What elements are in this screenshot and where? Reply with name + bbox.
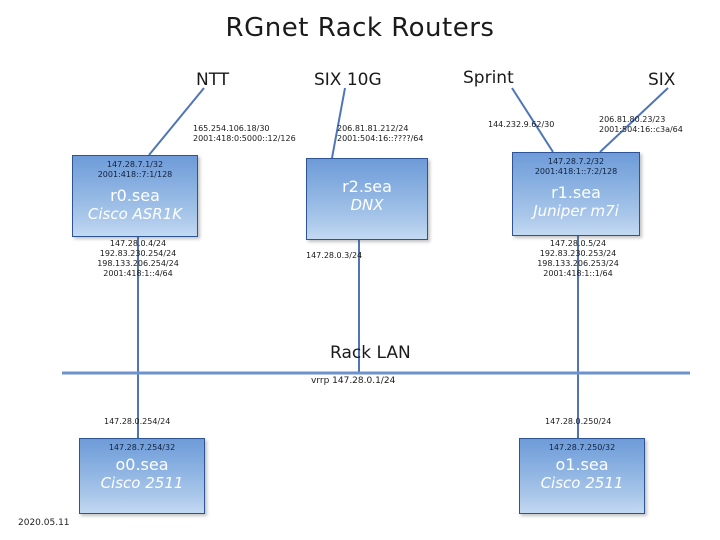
console-server-node-o0[interactable]: 147.28.7.254/32 o0.sea Cisco 2511 <box>79 438 205 514</box>
lan-address: 147.28.0.3/24 <box>306 251 362 261</box>
console-server-model-o1: Cisco 2511 <box>520 474 644 492</box>
router-loopback-v6-r1: 2001:418:1::7:2/128 <box>513 167 639 177</box>
router-model-r1: Juniper m7i <box>513 202 639 220</box>
router-lan-addresses-r1: 147.28.0.5/24 192.83.230.253/24 198.133.… <box>518 239 638 279</box>
router-node-r0[interactable]: 147.28.7.1/32 2001:418::7:1/128 r0.sea C… <box>72 155 198 237</box>
uplink-address: 2001:504:16::c3a/64 <box>599 125 683 135</box>
console-lan-address-o0: 147.28.0.254/24 <box>104 417 170 427</box>
lan-address: 2001:418:1::1/64 <box>518 269 638 279</box>
uplink-address: 2001:418:0:5000::12/126 <box>193 134 296 144</box>
uplink-label-six10g: SIX 10G <box>314 70 382 90</box>
uplink-label-six: SIX <box>648 70 675 90</box>
uplink-address: 206.81.80.23/23 <box>599 115 683 125</box>
wire-ntt-to-r0 <box>149 88 204 155</box>
router-lan-addresses-r2: 147.28.0.3/24 <box>306 251 362 261</box>
router-loopback-v4-r0: 147.28.7.1/32 <box>73 156 197 170</box>
router-lan-addresses-r0: 147.28.0.4/24 192.83.230.254/24 198.133.… <box>78 239 198 279</box>
uplink-address: 206.81.81.212/24 <box>337 124 423 134</box>
lan-address: 192.83.230.253/24 <box>518 249 638 259</box>
router-model-r0: Cisco ASR1K <box>73 205 197 223</box>
uplink-addresses-sprint: 144.232.9.62/30 <box>488 120 554 130</box>
lan-address: 147.28.0.5/24 <box>518 239 638 249</box>
router-node-r1[interactable]: 147.28.7.2/32 2001:418:1::7:2/128 r1.sea… <box>512 152 640 236</box>
lan-address: 192.83.230.254/24 <box>78 249 198 259</box>
uplink-addresses-six: 206.81.80.23/23 2001:504:16::c3a/64 <box>599 115 683 135</box>
uplink-address: 144.232.9.62/30 <box>488 120 554 130</box>
router-name-r0: r0.sea <box>73 186 197 205</box>
console-server-model-o0: Cisco 2511 <box>80 474 204 492</box>
wire-six10g-to-r2 <box>332 88 345 158</box>
console-loopback-o1: 147.28.7.250/32 <box>520 439 644 453</box>
page-title: RGnet Rack Routers <box>0 13 720 43</box>
console-loopback-o0: 147.28.7.254/32 <box>80 439 204 453</box>
router-name-r1: r1.sea <box>513 183 639 202</box>
console-lan-address-o1: 147.28.0.250/24 <box>545 417 611 427</box>
date-stamp: 2020.05.11 <box>18 518 70 528</box>
uplink-addresses-six10g: 206.81.81.212/24 2001:504:16::????/64 <box>337 124 423 144</box>
router-name-r2: r2.sea <box>307 177 427 196</box>
console-server-node-o1[interactable]: 147.28.7.250/32 o1.sea Cisco 2511 <box>519 438 645 514</box>
lan-address: 147.28.0.4/24 <box>78 239 198 249</box>
uplink-address: 2001:504:16::????/64 <box>337 134 423 144</box>
uplink-addresses-ntt: 165.254.106.18/30 2001:418:0:5000::12/12… <box>193 124 296 144</box>
lan-address: 2001:418:1::4/64 <box>78 269 198 279</box>
router-node-r2[interactable]: r2.sea DNX <box>306 158 428 240</box>
uplink-label-ntt: NTT <box>196 70 229 90</box>
router-model-r2: DNX <box>307 196 427 214</box>
console-server-name-o1: o1.sea <box>520 455 644 474</box>
uplink-label-sprint: Sprint <box>463 68 514 88</box>
rack-lan-label: Rack LAN <box>330 343 411 363</box>
router-loopback-v4-r1: 147.28.7.2/32 <box>513 153 639 167</box>
lan-address: 198.133.206.253/24 <box>518 259 638 269</box>
lan-address: 198.133.206.254/24 <box>78 259 198 269</box>
router-loopback-v6-r0: 2001:418::7:1/128 <box>73 170 197 180</box>
vrrp-label: vrrp 147.28.0.1/24 <box>311 376 395 386</box>
network-diagram-canvas: RGnet Rack Routers NTT SIX 10G Sprint SI… <box>0 0 720 540</box>
uplink-address: 165.254.106.18/30 <box>193 124 296 134</box>
console-server-name-o0: o0.sea <box>80 455 204 474</box>
